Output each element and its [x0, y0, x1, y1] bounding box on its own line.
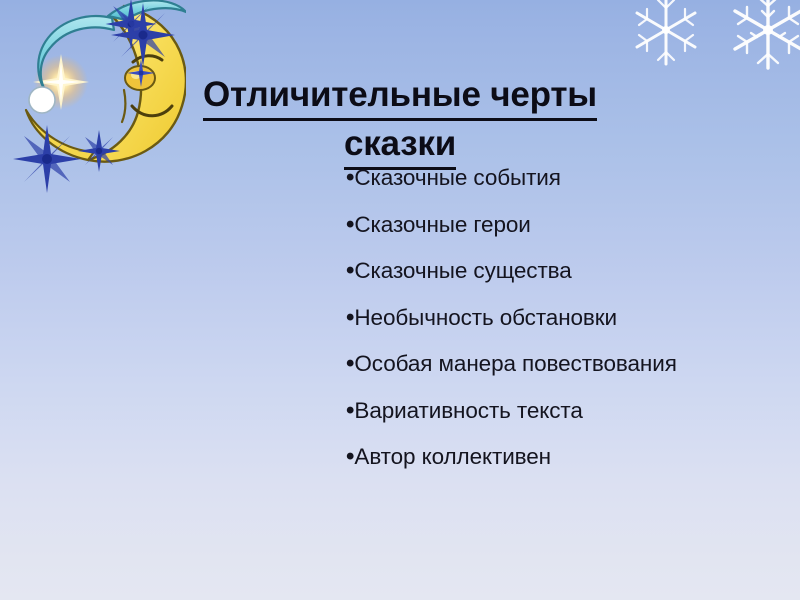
list-item: •Особая манера повествования: [346, 349, 786, 396]
list-item-label: Вариативность текста: [354, 396, 582, 426]
list-item: •Сказочные события: [346, 163, 786, 210]
bullet-marker-icon: •: [346, 163, 354, 193]
bullet-marker-icon: •: [346, 349, 354, 379]
list-item-label: Особая манера повествования: [354, 349, 676, 379]
title-line-1: Отличительные черты: [150, 72, 650, 121]
bullet-marker-icon: •: [346, 210, 354, 240]
list-item: •Сказочные герои: [346, 210, 786, 257]
list-item: •Автор коллективен: [346, 442, 786, 489]
feature-bullet-list: •Сказочные события •Сказочные герои •Ска…: [346, 163, 786, 489]
slide-title: Отличительные черты сказки: [150, 72, 650, 170]
glow-star-icon: [33, 54, 89, 110]
list-item: •Необычность обстановки: [346, 303, 786, 350]
list-item-label: Сказочные существа: [354, 256, 571, 286]
snowflake-icon: [624, 0, 708, 77]
list-item-label: Сказочные события: [354, 163, 560, 193]
list-item-label: Автор коллективен: [354, 442, 551, 472]
bullet-marker-icon: •: [346, 303, 354, 333]
bullet-marker-icon: •: [346, 442, 354, 472]
sparkle-star-top: [108, 0, 178, 75]
sparkle-star-lower-mid: [76, 128, 122, 179]
list-item: •Сказочные существа: [346, 256, 786, 303]
sparkle-star-icon: [106, 0, 157, 49]
snowflake-icon: [722, 0, 800, 81]
list-item: •Вариативность текста: [346, 396, 786, 443]
sparkle-star-lower-left: [10, 122, 84, 201]
list-item-label: Сказочные герои: [354, 210, 530, 240]
bullet-marker-icon: •: [346, 256, 354, 286]
bullet-marker-icon: •: [346, 396, 354, 426]
list-item-label: Необычность обстановки: [354, 303, 617, 333]
slide-canvas: Отличительные черты сказки •Сказочные со…: [0, 0, 800, 600]
